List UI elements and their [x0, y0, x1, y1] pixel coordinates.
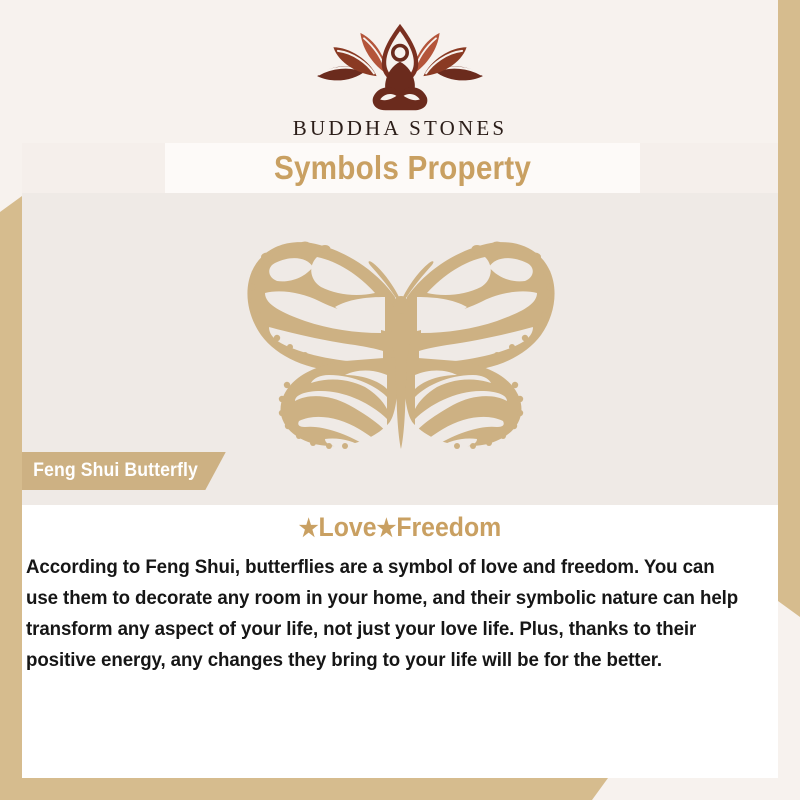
- page-title: Symbols Property: [189, 143, 617, 193]
- brand-wordmark: BUDDHA STONES: [0, 116, 800, 141]
- body-paragraph: According to Feng Shui, butterflies are …: [26, 552, 748, 676]
- butterfly-icon: [225, 235, 577, 450]
- subtitle-word-love: Love: [319, 512, 377, 542]
- title-band-left: [22, 143, 165, 193]
- brand-logo: BUDDHA STONES: [0, 22, 800, 141]
- star-icon-mid: ★: [377, 515, 397, 542]
- left-border-band: [0, 196, 22, 800]
- star-icon-left: ★: [299, 515, 319, 542]
- lotus-meditation-figure-icon: [310, 22, 490, 114]
- infographic-page: BUDDHA STONES Symbols Property: [0, 0, 800, 800]
- subtitle-word-freedom: Freedom: [396, 512, 501, 542]
- feng-shui-butterfly-tag: Feng Shui Butterfly: [22, 452, 226, 490]
- content-subtitle: ★Love★Freedom: [52, 512, 748, 543]
- title-band-right: [640, 143, 778, 193]
- bottom-border-band: [0, 778, 608, 800]
- tag-label: Feng Shui Butterfly: [33, 460, 198, 482]
